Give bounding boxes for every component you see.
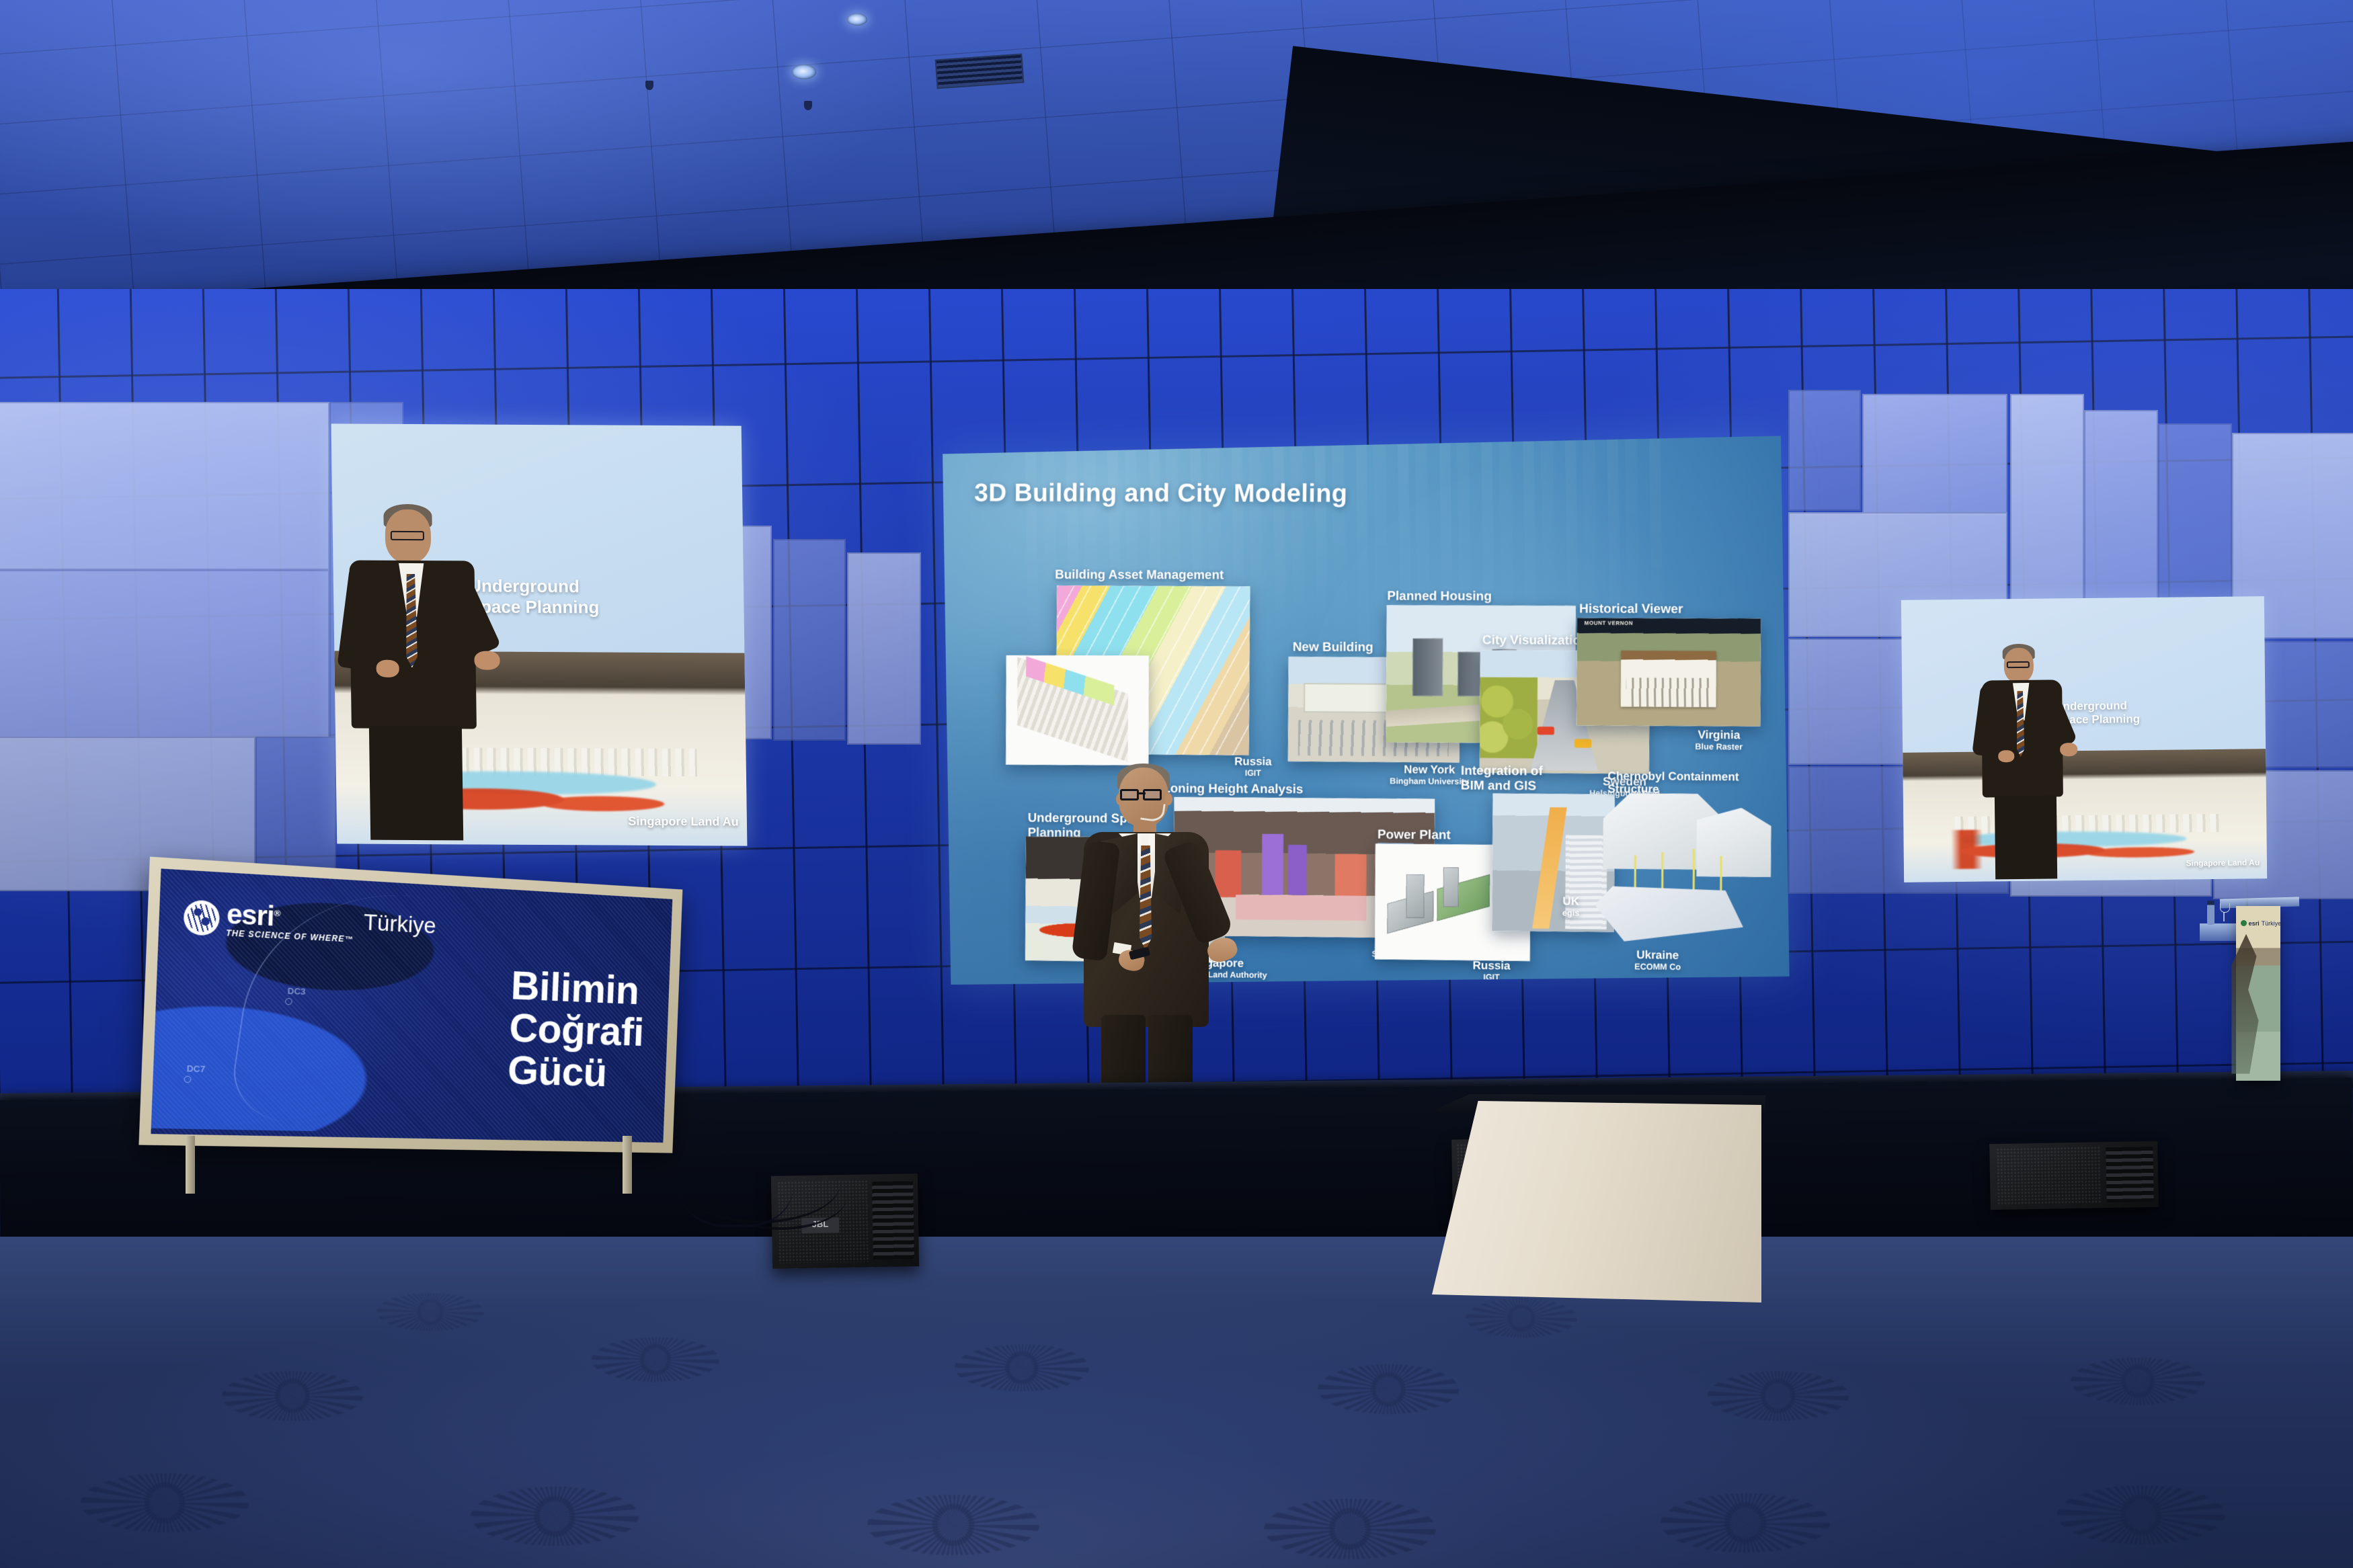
lectern-logo-word: esri xyxy=(2249,920,2260,927)
slide-attr-power-plant: Russia IGIT xyxy=(1437,958,1546,983)
headline-line-3: Gücü xyxy=(507,1049,643,1095)
historical-viewer-header-bar: MOUNT VERNON xyxy=(1577,618,1761,634)
housing-tower xyxy=(1413,638,1443,696)
historical-mansion-model xyxy=(1621,651,1716,707)
signboard-leg xyxy=(186,1136,195,1194)
imag-left-presenter-glasses xyxy=(391,531,424,540)
presenter-eyeglasses-left xyxy=(1120,789,1139,800)
presenter-eyeglasses-bridge xyxy=(1138,792,1146,794)
imag-right-presenter xyxy=(1975,643,2091,880)
ceiling-air-vent xyxy=(935,54,1025,89)
imag-screen-left: Underground Space Planning Singapore Lan… xyxy=(331,423,748,845)
ceiling-downlight-icon xyxy=(847,13,867,26)
signboard-map-label-dc7: DC7 xyxy=(186,1063,205,1074)
slide-caption-integration-bim-gis: Integration of BIM and GIS xyxy=(1460,764,1549,794)
speaker-horn xyxy=(2106,1147,2153,1203)
branded-lectern[interactable]: esri Türkiye xyxy=(2236,906,2280,1081)
signboard-cable xyxy=(679,1126,793,1227)
imag-left-presenter-hand-left xyxy=(376,659,399,677)
attr-org: Blue Raster xyxy=(1659,742,1778,753)
signboard-support-legs xyxy=(168,1136,639,1194)
imag-right-content: Underground Space Planning Singapore Lan… xyxy=(1901,596,2267,882)
slide-caption-historical-viewer: Historical Viewer xyxy=(1579,602,1683,616)
zoning-block-purple xyxy=(1263,834,1283,895)
slide-caption-new-building: New Building xyxy=(1292,641,1373,655)
conference-stage-photo: Underground Space Planning Singapore Lan… xyxy=(0,0,2353,1568)
housing-tower xyxy=(1458,653,1483,697)
imag-right-presenter-hand-right xyxy=(2060,743,2077,756)
power-plant-unit xyxy=(1443,868,1459,907)
imag-left-presenter-hand-right xyxy=(475,651,500,669)
slide-diagram-chernobyl-containment xyxy=(1583,782,1780,956)
slide-attr-chernobyl-containment: Ukraine ECOMM Co xyxy=(1599,948,1718,972)
presenter-headset-microphone xyxy=(1140,801,1166,823)
power-plant-unit xyxy=(1406,874,1425,919)
street-trees xyxy=(1480,677,1538,758)
imag-left-presenter xyxy=(340,503,526,840)
sprinkler-head-icon xyxy=(804,101,812,110)
stage-monitor-speaker xyxy=(1989,1141,2159,1210)
esri-region-label: Türkiye xyxy=(363,909,436,939)
containment-reactor-base xyxy=(1595,886,1743,942)
headline-line-2: Coğrafi xyxy=(508,1007,644,1053)
lectern-globe-icon xyxy=(2241,920,2247,926)
imag-right-overlay-attr: Singapore Land Au xyxy=(2186,858,2260,868)
lectern-front-panel: esri Türkiye xyxy=(2236,906,2280,1081)
attr-region: Russia xyxy=(1437,958,1546,973)
slide-thumb-building-asset-model xyxy=(1006,655,1148,766)
speaker-horn xyxy=(872,1181,914,1260)
esri-globe-icon xyxy=(183,899,220,936)
attr-region: Virginia xyxy=(1660,729,1779,743)
attr-region: Ukraine xyxy=(1599,948,1718,962)
white-podium[interactable] xyxy=(1432,1101,1761,1303)
imag-left-overlay-attr: Singapore Land Au xyxy=(628,815,739,829)
imag-right-presenter-glasses xyxy=(2007,661,2030,668)
imag-left-content: Underground Space Planning Singapore Lan… xyxy=(331,423,748,845)
imag-right-presenter-hand-left xyxy=(1998,750,2014,762)
historical-viewer-title: MOUNT VERNON xyxy=(1585,620,1634,626)
street-car-yellow xyxy=(1574,739,1591,747)
presenter-eyeglasses-right xyxy=(1143,789,1162,800)
imag-left-presenter-legs xyxy=(369,725,463,840)
slide-title: 3D Building and City Modeling xyxy=(974,479,1347,508)
signboard-headline: Bilimin Coğrafi Gücü xyxy=(507,965,646,1096)
ceiling-downlight-icon xyxy=(792,65,816,79)
street-car-red xyxy=(1537,727,1554,735)
containment-arch-wing xyxy=(1697,808,1771,878)
speaker-grille xyxy=(1996,1146,2101,1206)
slide-caption-building-asset-management: Building Asset Management xyxy=(1055,568,1224,583)
esri-logo-text-group: esri® THE SCIENCE OF WHERE™ xyxy=(226,901,355,944)
signboard-display: esri® THE SCIENCE OF WHERE™ Türkiye Bili… xyxy=(151,868,672,1143)
zoning-block-purple xyxy=(1288,845,1307,896)
slide-caption-city-visualization: City Visualization xyxy=(1482,634,1588,649)
branded-signboard: esri® THE SCIENCE OF WHERE™ Türkiye Bili… xyxy=(138,857,682,1153)
signboard-map-label-dc3: DC3 xyxy=(287,985,305,996)
lectern-logo-region: Türkiye xyxy=(2262,920,2282,927)
imag-screen-right: Underground Space Planning Singapore Lan… xyxy=(1901,596,2267,882)
water-bottle[interactable] xyxy=(2207,901,2215,925)
slide-caption-power-plant: Power Plant xyxy=(1378,827,1451,843)
zoning-block-red xyxy=(1335,854,1367,899)
signboard-leg xyxy=(623,1136,632,1194)
esri-wordmark-text: esri xyxy=(226,899,274,932)
hall-carpet-floor xyxy=(0,1237,2353,1568)
slide-attr-historical-viewer: Virginia Blue Raster xyxy=(1659,729,1779,753)
signboard-frame: esri® THE SCIENCE OF WHERE™ Türkiye Bili… xyxy=(138,857,682,1153)
attr-org: ECOMM Co xyxy=(1599,961,1718,972)
presenter-on-stage xyxy=(1054,758,1256,1138)
slide-thumb-historical-viewer: MOUNT VERNON xyxy=(1577,618,1761,727)
lectern-map-graphic xyxy=(2231,934,2266,1074)
thumb-art-building-model xyxy=(1006,655,1148,766)
carpet-light-sheen xyxy=(0,1237,2353,1568)
presenter-ear xyxy=(1164,793,1172,805)
thumb-art-historical-viewer: MOUNT VERNON xyxy=(1577,618,1761,727)
slide-caption-planned-housing: Planned Housing xyxy=(1387,589,1492,604)
imag-right-presenter-legs xyxy=(1995,796,2057,880)
lectern-esri-logo: esri Türkiye xyxy=(2241,920,2282,927)
sprinkler-head-icon xyxy=(645,81,653,90)
